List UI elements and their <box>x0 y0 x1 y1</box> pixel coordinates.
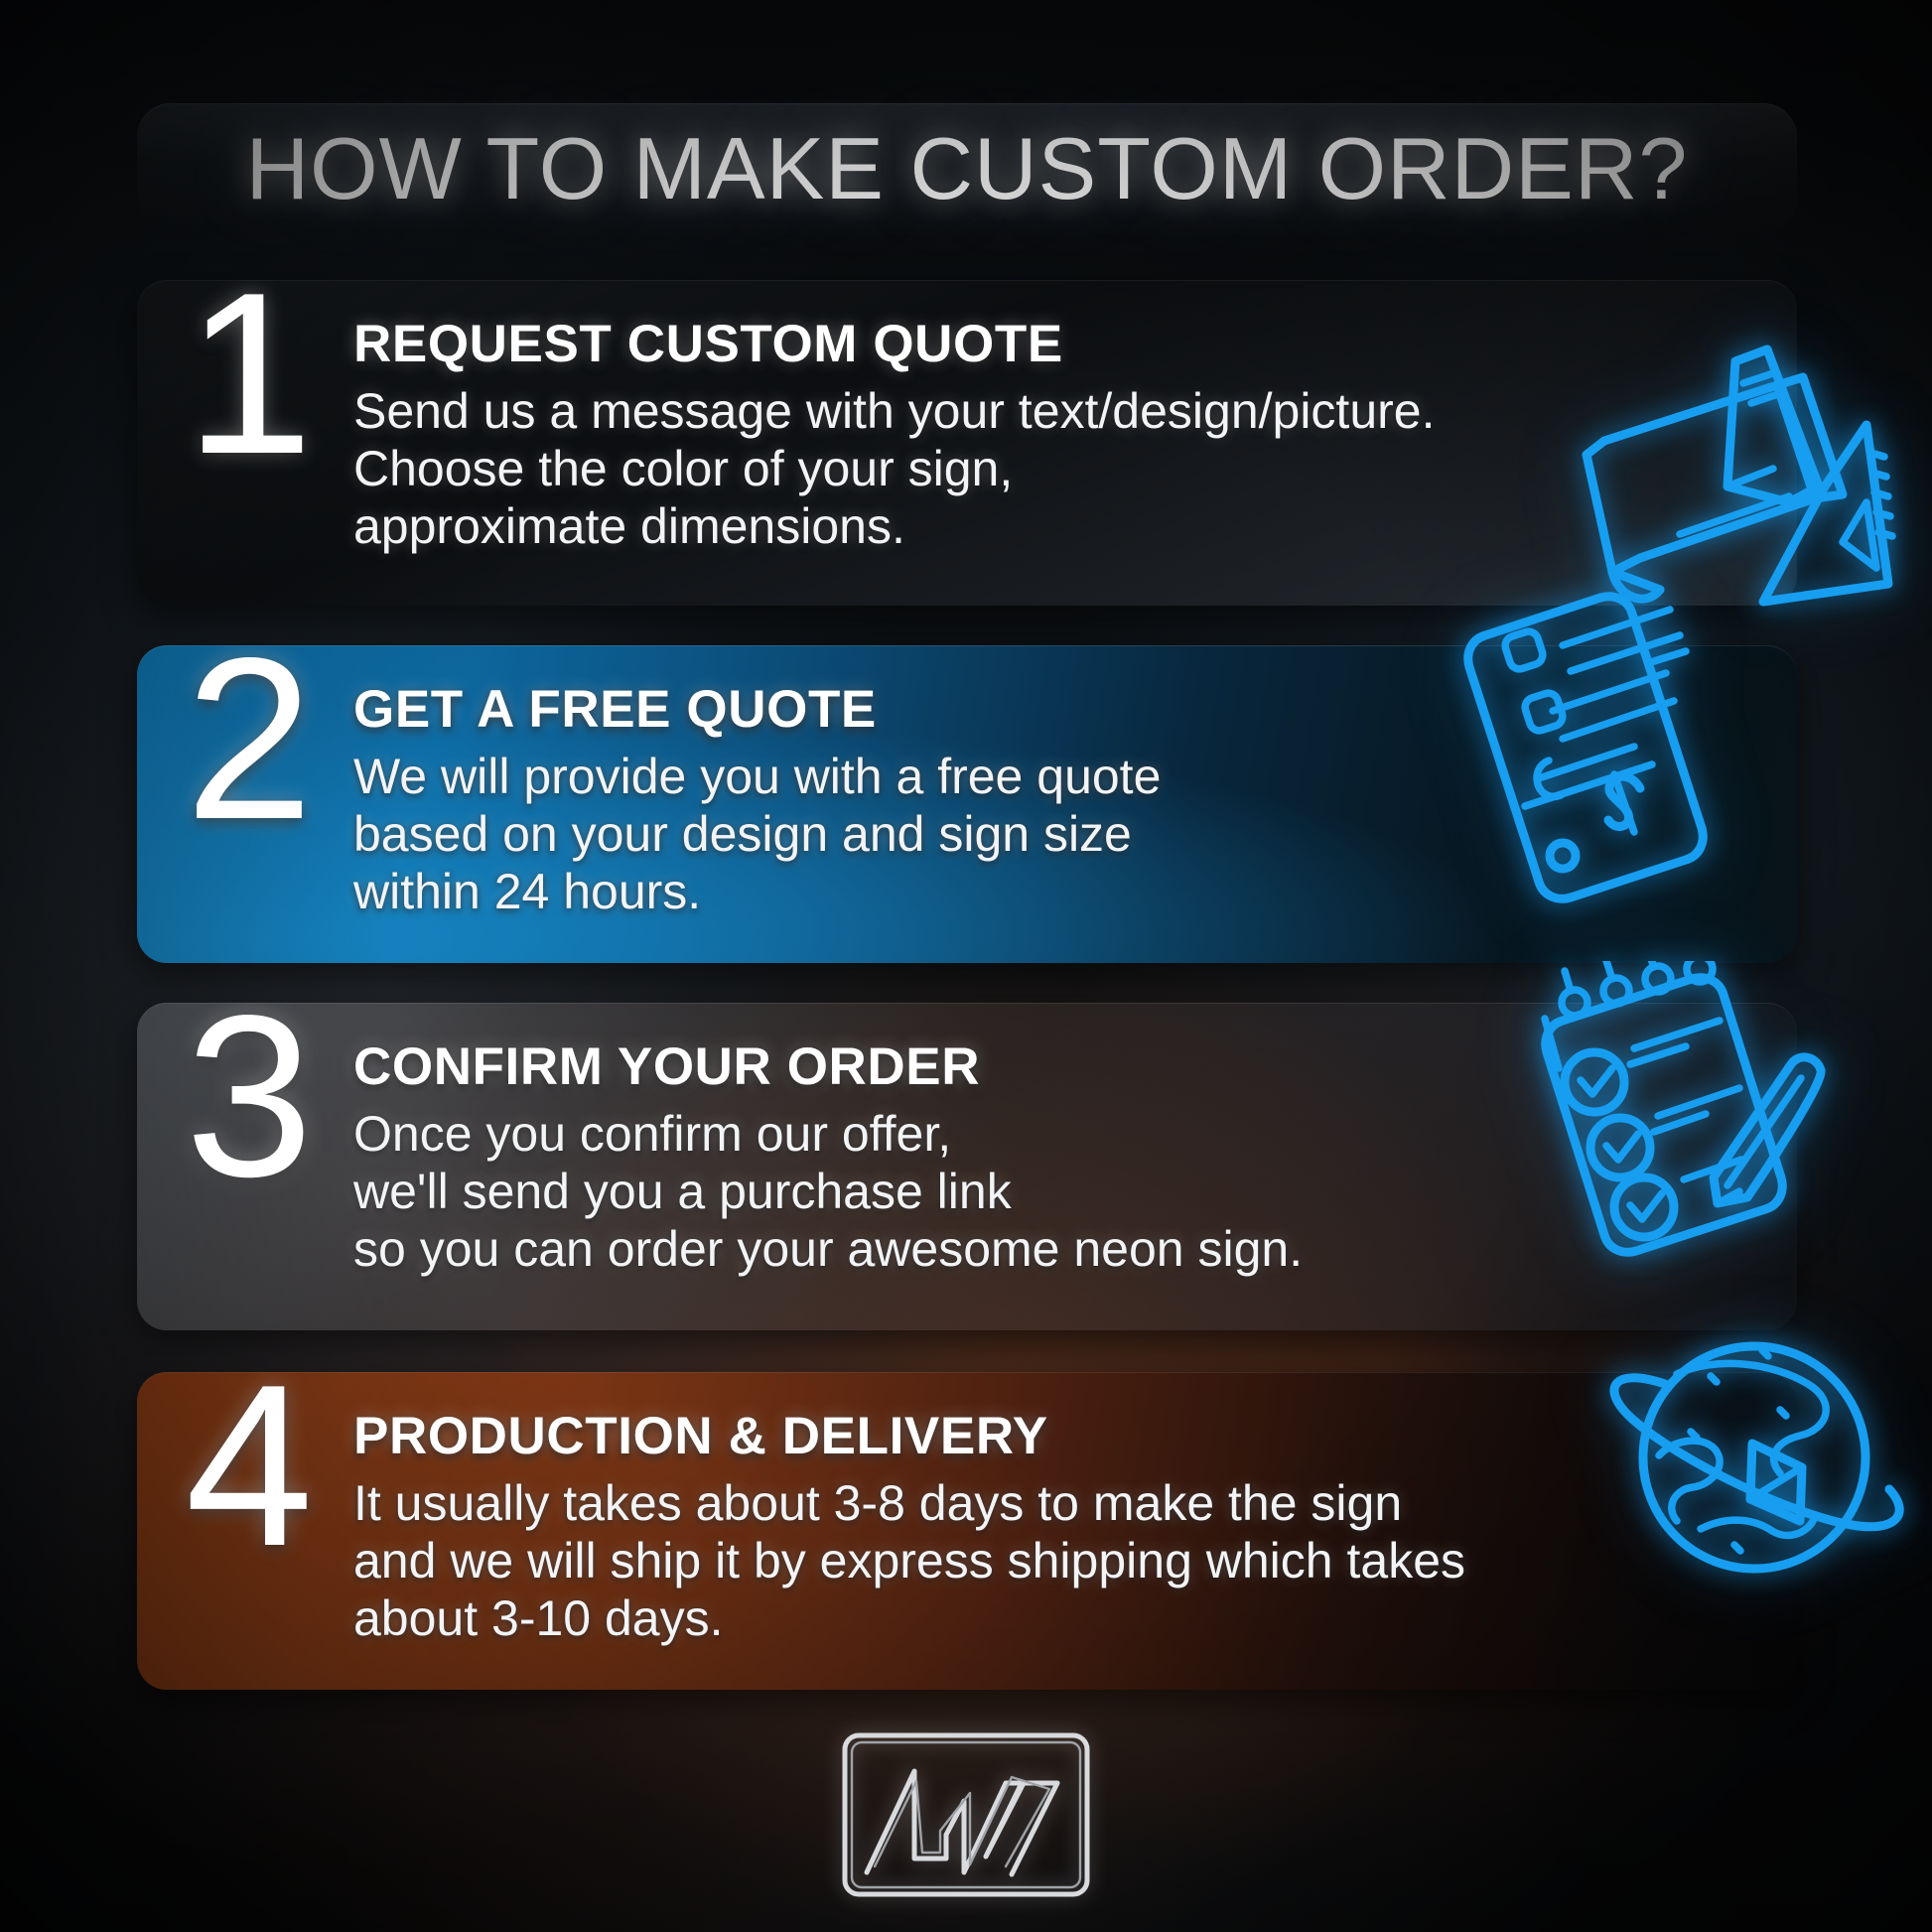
step-number-2: 2 <box>137 645 353 834</box>
step-card-3: 3 CONFIRM YOUR ORDER Once you confirm ou… <box>137 1003 1797 1330</box>
step-number-3: 3 <box>137 1003 353 1191</box>
step-line-4-1: It usually takes about 3-8 days to make … <box>353 1474 1757 1532</box>
step-heading-3: CONFIRM YOUR ORDER <box>353 1036 1757 1097</box>
step-line-2-3: within 24 hours. <box>353 863 1757 920</box>
step-body-2: GET A FREE QUOTE We will provide you wit… <box>353 645 1797 920</box>
step-heading-2: GET A FREE QUOTE <box>353 679 1757 740</box>
step-line-4-3: about 3-10 days. <box>353 1589 1757 1647</box>
step-body-3: CONFIRM YOUR ORDER Once you confirm our … <box>353 1003 1797 1278</box>
step-card-2: 2 GET A FREE QUOTE We will provide you w… <box>137 645 1797 963</box>
title-bar: HOW TO MAKE CUSTOM ORDER? <box>137 103 1797 234</box>
step-heading-4: PRODUCTION & DELIVERY <box>353 1406 1757 1466</box>
ln-monogram-logo <box>837 1727 1095 1902</box>
step-number-1: 1 <box>137 280 353 469</box>
infographic-canvas: HOW TO MAKE CUSTOM ORDER? 1 REQUEST CUST… <box>0 0 1932 1932</box>
step-line-2-2: based on your design and sign size <box>353 805 1757 863</box>
step-card-1: 1 REQUEST CUSTOM QUOTE Send us a message… <box>137 280 1797 606</box>
step-line-3-3: so you can order your awesome neon sign. <box>353 1220 1757 1278</box>
step-line-3-1: Once you confirm our offer, <box>353 1105 1757 1163</box>
step-heading-1: REQUEST CUSTOM QUOTE <box>353 314 1757 374</box>
page-title: HOW TO MAKE CUSTOM ORDER? <box>246 118 1689 219</box>
step-line-2-1: We will provide you with a free quote <box>353 748 1757 805</box>
step-line-1-1: Send us a message with your text/design/… <box>353 382 1757 440</box>
step-line-1-2: Choose the color of your sign, <box>353 440 1757 497</box>
step-body-4: PRODUCTION & DELIVERY It usually takes a… <box>353 1372 1797 1647</box>
step-body-1: REQUEST CUSTOM QUOTE Send us a message w… <box>353 280 1797 555</box>
step-line-3-2: we'll send you a purchase link <box>353 1163 1757 1220</box>
step-number-4: 4 <box>137 1372 353 1561</box>
step-line-4-2: and we will ship it by express shipping … <box>353 1532 1757 1589</box>
step-card-4: 4 PRODUCTION & DELIVERY It usually takes… <box>137 1372 1797 1690</box>
step-line-1-3: approximate dimensions. <box>353 497 1757 555</box>
